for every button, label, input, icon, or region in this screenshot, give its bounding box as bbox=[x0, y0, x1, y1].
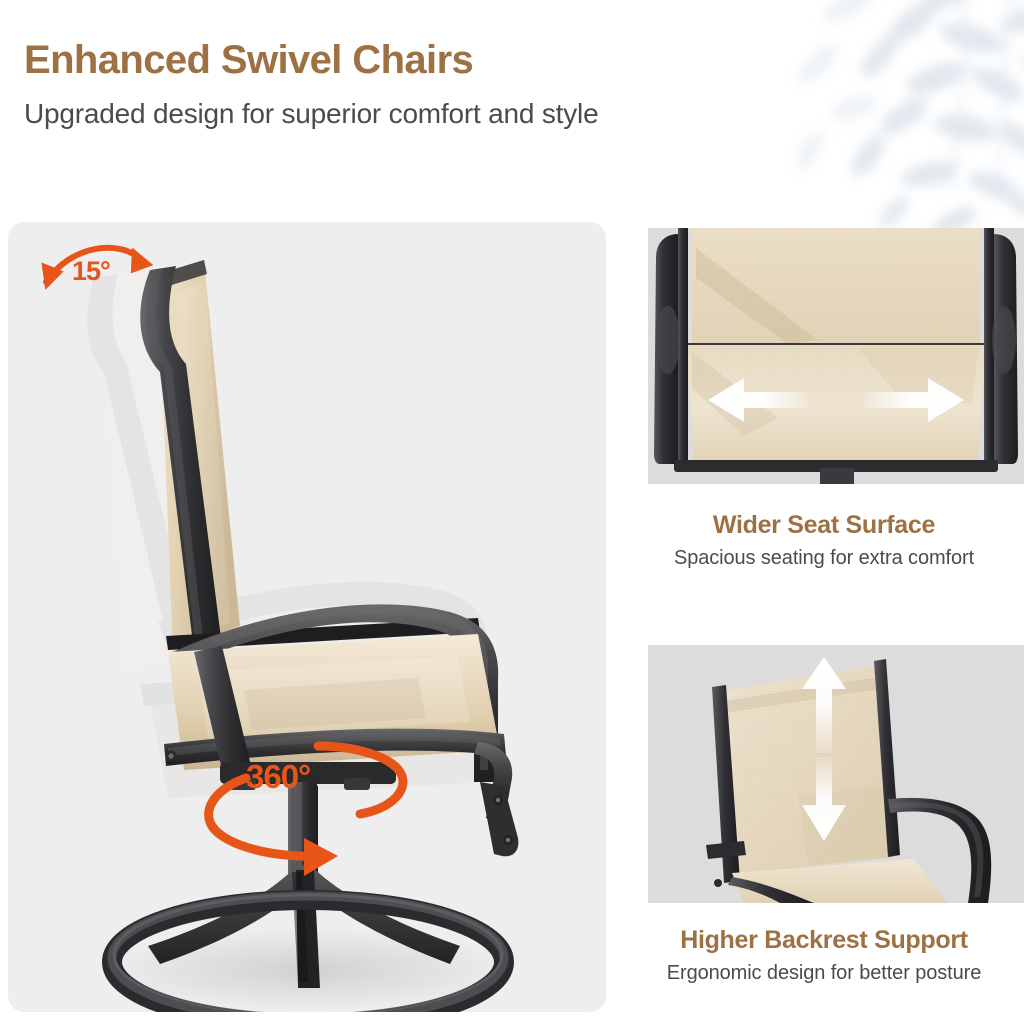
higher-backrest-illustration bbox=[648, 645, 1024, 903]
armrest bbox=[173, 604, 498, 782]
main-feature-panel bbox=[8, 222, 606, 1012]
seat-mesh bbox=[168, 634, 500, 770]
ghost-chair-tilted bbox=[87, 262, 494, 798]
pedestal-spokes bbox=[148, 862, 460, 988]
wider-seat-surface-photo bbox=[648, 228, 1024, 484]
feature-subtitle-higher-backrest: Ergonomic design for better posture bbox=[624, 961, 1024, 986]
wider-seat-caption: Wider Seat Surface Spacious seating for … bbox=[624, 510, 1024, 571]
swivel-post bbox=[288, 782, 318, 878]
front-bracket bbox=[474, 742, 512, 822]
page-subtitle: Upgraded design for superior comfort and… bbox=[24, 97, 864, 131]
header-block: Enhanced Swivel Chairs Upgraded design f… bbox=[24, 38, 864, 130]
feature-title-wider-seat: Wider Seat Surface bbox=[624, 510, 1024, 541]
higher-backrest-support-photo bbox=[648, 645, 1024, 903]
feature-subtitle-wider-seat: Spacious seating for extra comfort bbox=[624, 546, 1024, 571]
seat-frame-rail bbox=[164, 729, 506, 766]
backrest-mesh bbox=[158, 260, 240, 652]
ring-base bbox=[112, 895, 504, 1012]
swivel-angle-badge: 360° bbox=[246, 760, 310, 793]
tilt-arc-arrow-icon bbox=[8, 222, 606, 1012]
tilt-angle-badge: 15° bbox=[72, 258, 110, 285]
infographic-page: Enhanced Swivel Chairs Upgraded design f… bbox=[0, 0, 1024, 1020]
backrest-post bbox=[140, 266, 222, 652]
swivel-rotation-arrow-icon bbox=[8, 222, 606, 1012]
wider-seat-illustration bbox=[648, 228, 1024, 484]
swivel-chair-illustration bbox=[8, 222, 606, 1012]
higher-backrest-caption: Higher Backrest Support Ergonomic design… bbox=[624, 925, 1024, 986]
feature-title-higher-backrest: Higher Backrest Support bbox=[624, 925, 1024, 956]
page-title: Enhanced Swivel Chairs bbox=[24, 38, 864, 83]
